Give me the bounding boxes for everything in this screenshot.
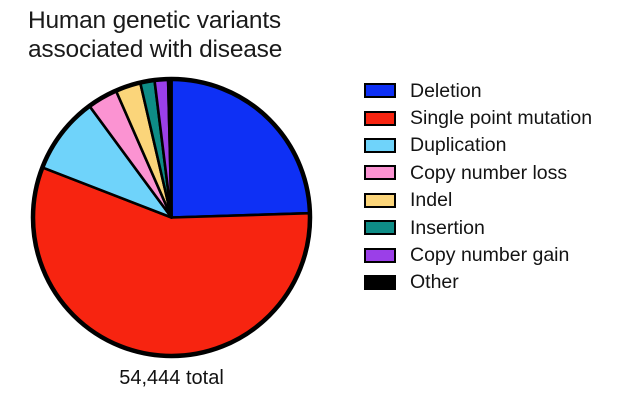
legend-item-label: Copy number loss [410, 162, 567, 184]
legend-item-label: Other [410, 271, 459, 293]
legend-swatch-icon [364, 83, 396, 98]
legend-swatch-icon [364, 275, 396, 290]
legend-swatch-icon [364, 138, 396, 153]
legend-item[interactable]: Deletion [364, 77, 620, 104]
legend-item[interactable]: Indel [364, 187, 620, 214]
legend-item[interactable]: Single point mutation [364, 104, 620, 131]
legend-swatch-icon [364, 193, 396, 208]
legend-swatch-icon [364, 111, 396, 126]
legend-item-label: Single point mutation [410, 107, 592, 129]
pie-chart-svg [30, 76, 313, 359]
legend-swatch-icon [364, 165, 396, 180]
legend-swatch-icon [364, 220, 396, 235]
pie-chart [30, 76, 313, 359]
legend-item-label: Indel [410, 189, 452, 211]
legend-swatch-icon [364, 248, 396, 263]
legend-item-label: Deletion [410, 80, 482, 102]
page-title: Human genetic variants associated with d… [28, 6, 348, 64]
legend-item[interactable]: Copy number gain [364, 241, 620, 268]
pie-total-caption: 54,444 total [30, 366, 313, 390]
chart-page: Human genetic variants associated with d… [0, 0, 620, 402]
legend-item[interactable]: Copy number loss [364, 159, 620, 186]
legend-item-label: Copy number gain [410, 244, 569, 266]
chart-legend: DeletionSingle point mutationDuplication… [364, 77, 620, 296]
legend-item-label: Insertion [410, 217, 485, 239]
legend-item-label: Duplication [410, 134, 506, 156]
legend-item[interactable]: Insertion [364, 214, 620, 241]
legend-item[interactable]: Duplication [364, 132, 620, 159]
legend-item[interactable]: Other [364, 269, 620, 296]
